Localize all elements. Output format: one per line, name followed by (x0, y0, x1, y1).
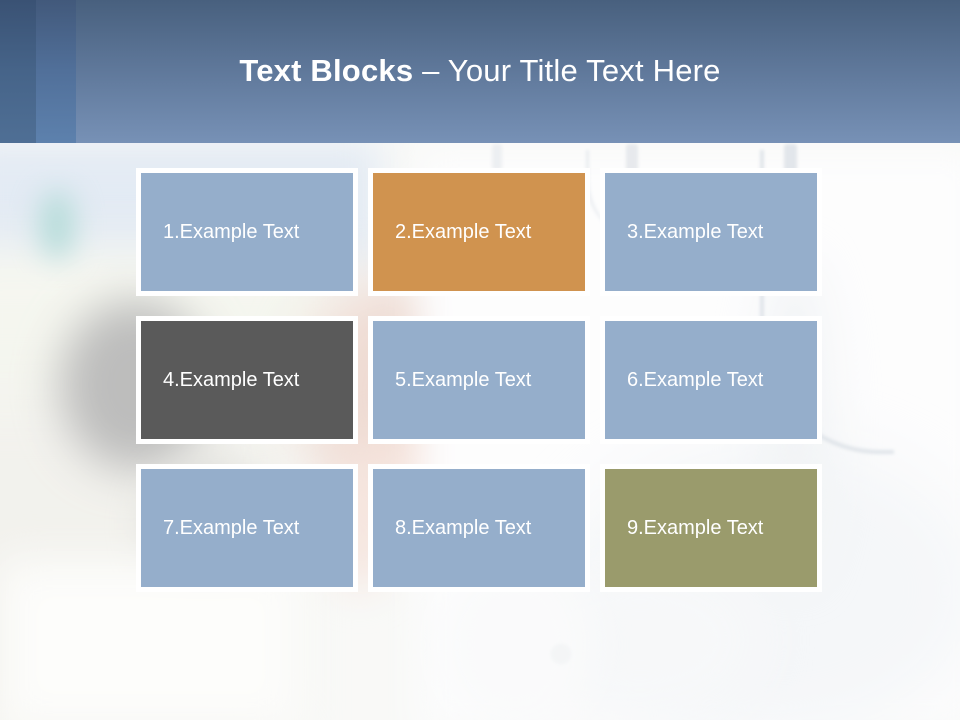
text-block-3-label: 3.Example Text (605, 220, 763, 244)
page-title: Text Blocks – Your Title Text Here (0, 52, 960, 90)
text-block-5-label: 5.Example Text (373, 368, 531, 392)
text-block-9[interactable]: 9.Example Text (600, 464, 822, 592)
page-title-light: Your Title Text Here (448, 53, 721, 88)
text-block-4-label: 4.Example Text (141, 368, 299, 392)
text-block-2[interactable]: 2.Example Text (368, 168, 590, 296)
slide-header: Text Blocks – Your Title Text Here (0, 0, 960, 143)
text-block-6[interactable]: 6.Example Text (600, 316, 822, 444)
text-block-2-label: 2.Example Text (373, 220, 531, 244)
text-block-3[interactable]: 3.Example Text (600, 168, 822, 296)
text-block-9-label: 9.Example Text (605, 516, 763, 540)
text-block-7-label: 7.Example Text (141, 516, 299, 540)
text-block-7[interactable]: 7.Example Text (136, 464, 358, 592)
text-blocks-grid: 1.Example Text 2.Example Text 3.Example … (136, 168, 824, 592)
text-block-8[interactable]: 8.Example Text (368, 464, 590, 592)
page-title-separator: – (413, 53, 448, 88)
text-block-1[interactable]: 1.Example Text (136, 168, 358, 296)
text-block-1-label: 1.Example Text (141, 220, 299, 244)
page-title-strong: Text Blocks (239, 53, 413, 88)
text-block-5[interactable]: 5.Example Text (368, 316, 590, 444)
text-block-4[interactable]: 4.Example Text (136, 316, 358, 444)
text-block-6-label: 6.Example Text (605, 368, 763, 392)
text-block-8-label: 8.Example Text (373, 516, 531, 540)
slide: Text Blocks – Your Title Text Here 1.Exa… (0, 0, 960, 720)
